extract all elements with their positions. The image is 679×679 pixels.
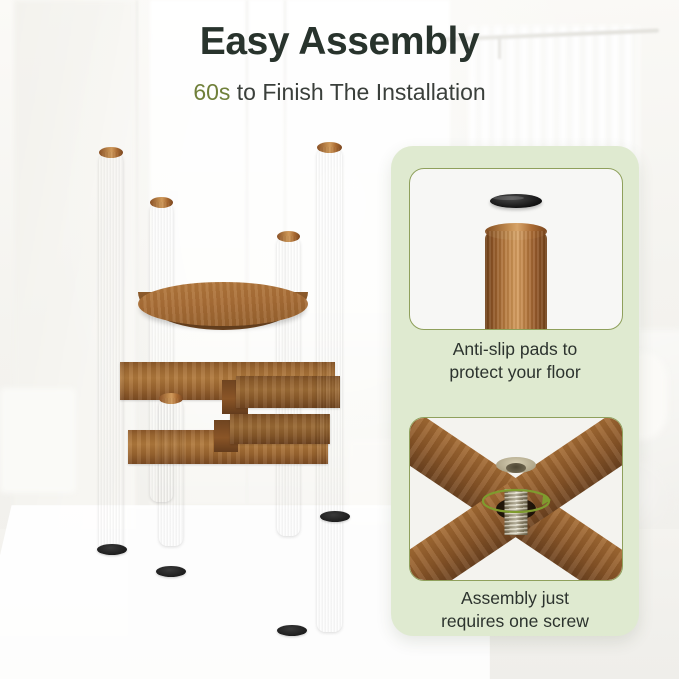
caption-line-2: protect your floor [391,361,639,384]
feature-panel: Anti-slip pads to protect your floor Ass… [391,146,639,636]
caption-line-1: Assembly just [391,587,639,610]
stand-leg-front-left [99,152,123,552]
stand-leg-closeup [485,231,547,330]
cross-joint-art [410,418,622,580]
card-one-screw [409,417,623,581]
stand-leg-front-right [317,147,342,632]
subtitle-rest: to Finish The Installation [230,79,485,105]
anti-slip-pad-icon [490,194,542,208]
foot-pad-2 [156,566,186,577]
caption-one-screw: Assembly just requires one screw [391,587,639,633]
caption-line-2: requires one screw [391,610,639,633]
rail-lower-side [230,414,330,444]
subtitle-accent: 60s [193,79,230,105]
screw-socket [506,463,526,473]
caption-anti-slip-pads: Anti-slip pads to protect your floor [391,338,639,384]
foot-pad-3 [320,511,350,522]
product-infographic: Easy Assembly 60s to Finish The Installa… [0,0,679,679]
stand-leg-front-mid [159,398,183,546]
rotation-arrow-icon [477,486,555,516]
caption-line-1: Anti-slip pads to [391,338,639,361]
foot-pad-1 [97,544,127,555]
foot-pad-4 [277,625,307,636]
page-subtitle: 60s to Finish The Installation [0,79,679,106]
page-title: Easy Assembly [0,20,679,64]
shelf-disc [138,282,308,326]
card-anti-slip-pads [409,168,623,330]
